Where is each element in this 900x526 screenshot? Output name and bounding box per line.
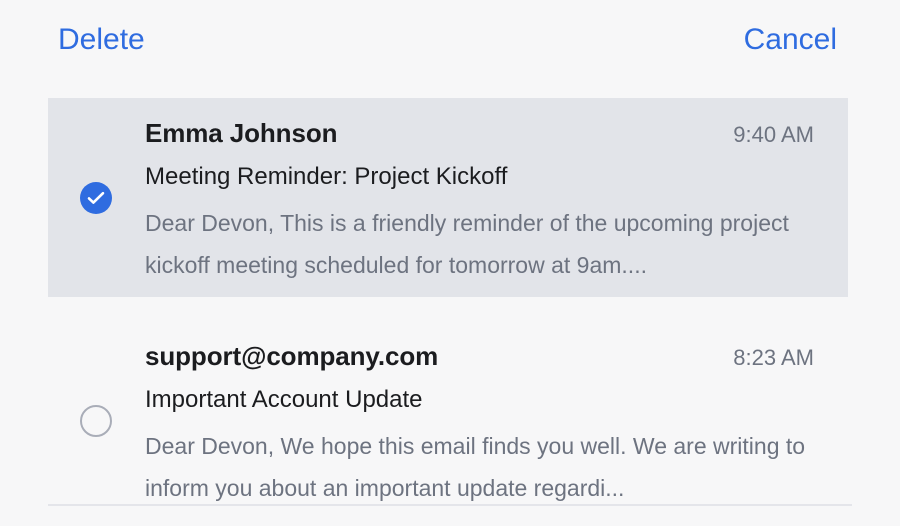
message-list: Emma Johnson 9:40 AM Meeting Reminder: P… xyxy=(0,82,900,520)
message-preview: Dear Devon, This is a friendly reminder … xyxy=(145,202,816,286)
message-header: support@company.com 8:23 AM xyxy=(145,339,816,375)
message-sender: support@company.com xyxy=(145,339,438,373)
check-circle-filled-icon[interactable] xyxy=(80,182,112,214)
selection-toolbar: Delete Cancel xyxy=(0,0,900,82)
message-timestamp: 9:40 AM xyxy=(733,118,816,152)
delete-button[interactable]: Delete xyxy=(58,20,145,60)
message-timestamp: 8:23 AM xyxy=(733,341,816,375)
message-subject: Important Account Update xyxy=(145,385,816,415)
message-header: Emma Johnson 9:40 AM xyxy=(145,116,816,152)
circle-outline-icon[interactable] xyxy=(80,405,112,437)
message-list-item[interactable]: Emma Johnson 9:40 AM Meeting Reminder: P… xyxy=(48,98,848,297)
message-preview: Dear Devon, We hope this email finds you… xyxy=(145,425,816,509)
message-sender: Emma Johnson xyxy=(145,116,337,150)
message-subject: Meeting Reminder: Project Kickoff xyxy=(145,162,816,192)
list-bottom-divider xyxy=(48,504,852,506)
message-list-item[interactable]: support@company.com 8:23 AM Important Ac… xyxy=(48,321,848,520)
cancel-button[interactable]: Cancel xyxy=(744,20,837,60)
